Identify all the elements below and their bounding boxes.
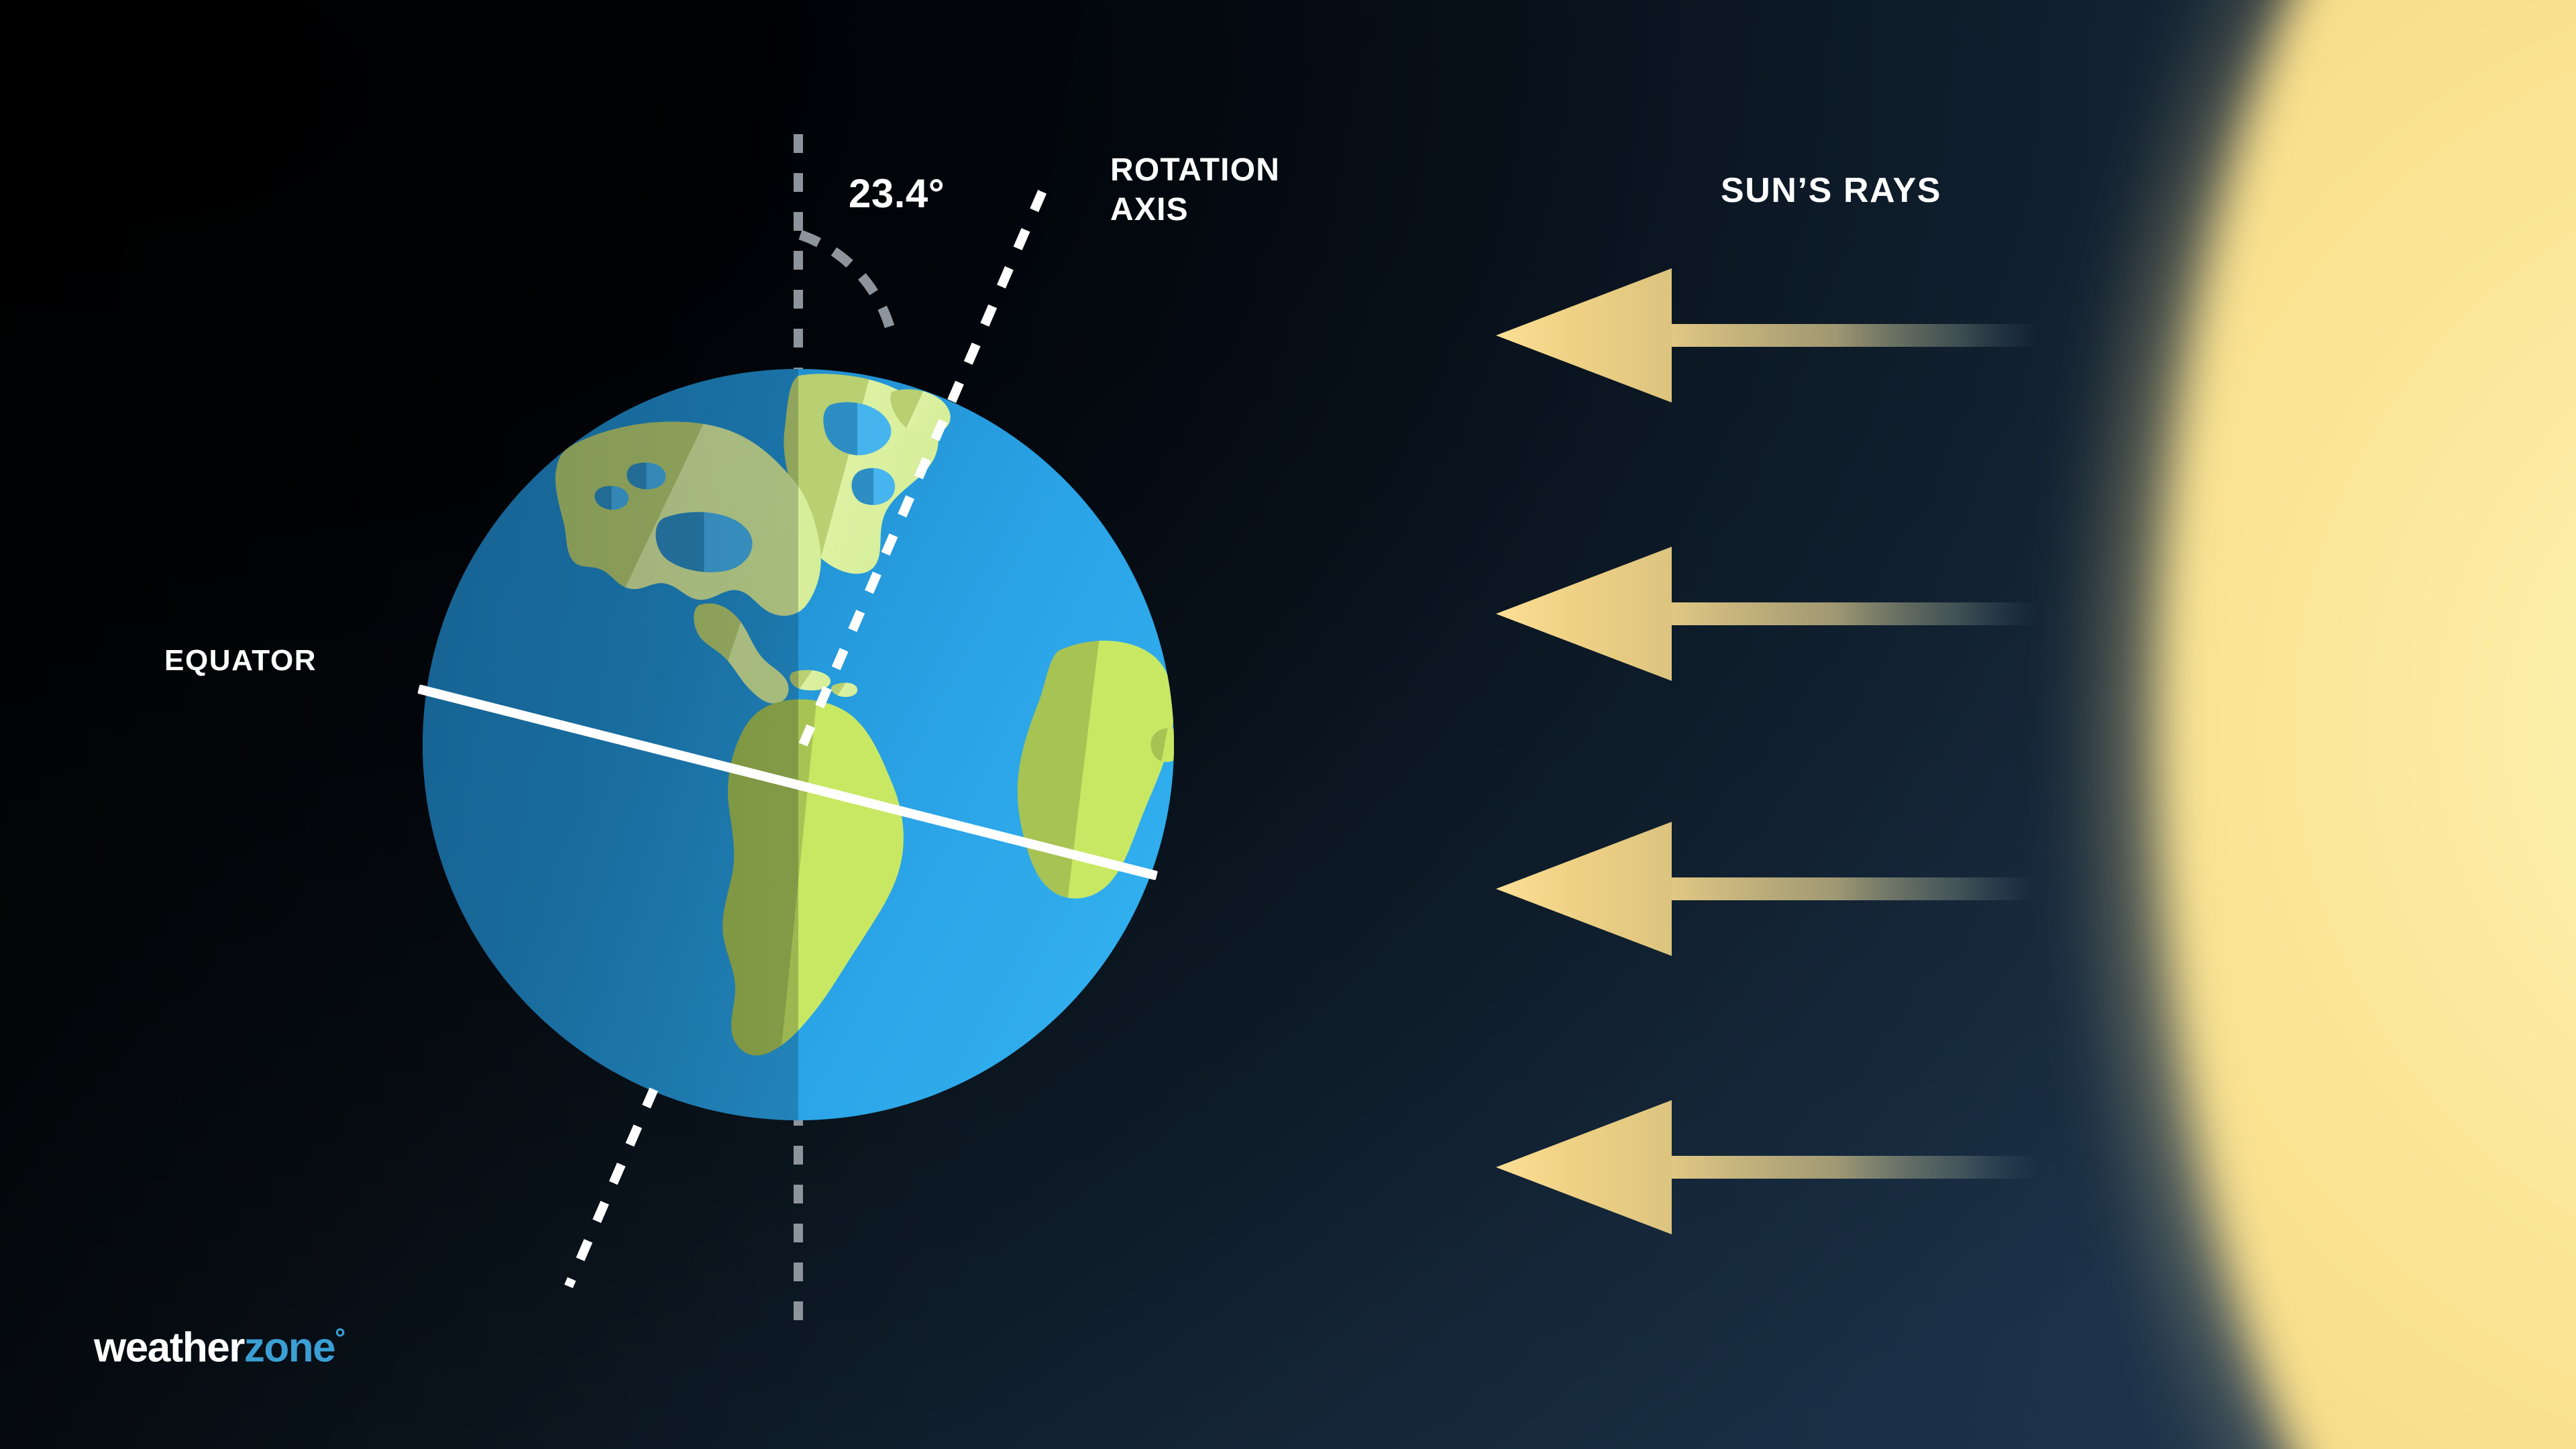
diagram-canvas: 23.4° ROTATION AXIS SUN’S RAYS EQUATOR [0,0,2576,1449]
sun-ray-arrow-2 [1496,547,2039,681]
logo-degree-icon: ° [335,1324,345,1353]
tilt-angle-label: 23.4° [849,171,945,216]
inland-sea-greenland-2 [851,468,895,505]
sun-disc [2160,0,2576,1449]
sun-ray-arrow-4 [1496,1100,2039,1234]
suns-rays-label: SUN’S RAYS [1721,171,1941,210]
logo-text-zone: zone [244,1325,335,1371]
rotation-axis-label: ROTATION AXIS [1110,151,1280,229]
sun-ray-arrow-3 [1496,822,2039,956]
logo-text-weather: weather [94,1325,244,1371]
landmass-caribbean-isles-2 [831,683,857,697]
inland-lakes [627,462,665,489]
equator-label: EQUATOR [164,644,317,677]
landmass-central-america [694,603,788,703]
sun-ray-arrow-1 [1496,268,2039,402]
tilt-angle-arc [714,195,929,369]
weatherzone-logo: weatherzone° [94,1325,345,1369]
